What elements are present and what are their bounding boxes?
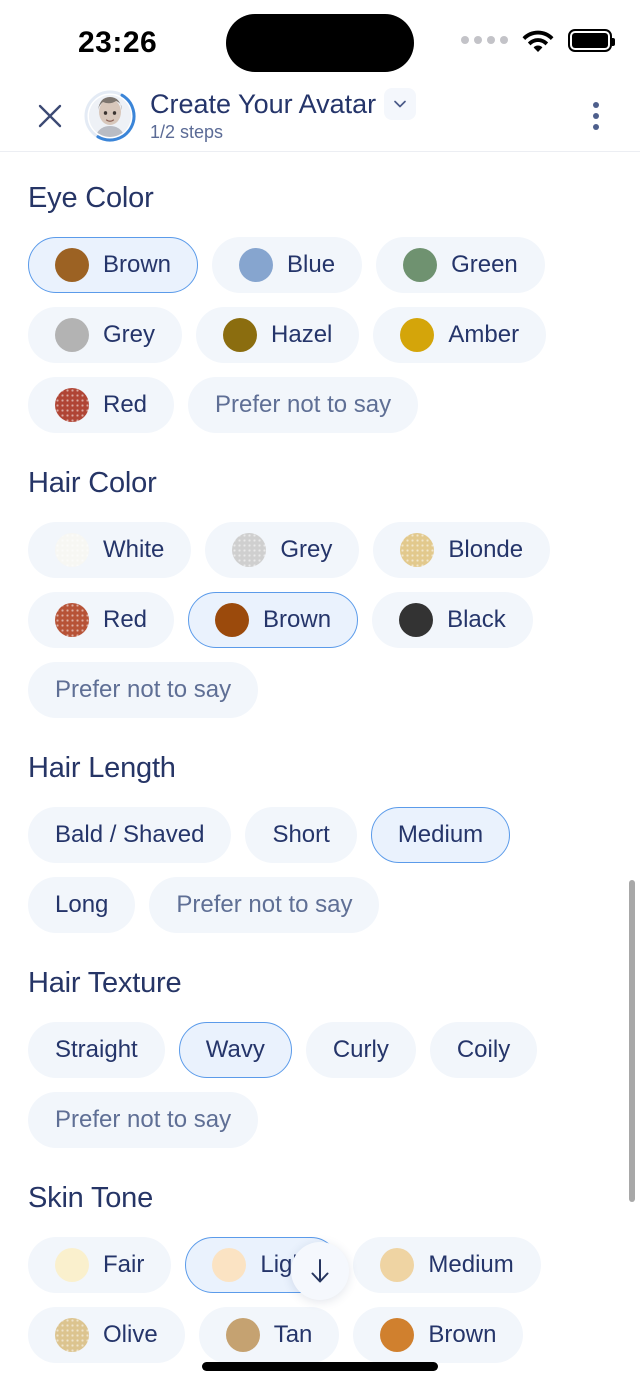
kebab-menu-icon [593, 102, 599, 108]
color-swatch-icon [55, 533, 89, 567]
chip-label: Green [451, 251, 518, 279]
chip-label: Brown [103, 251, 171, 279]
chip-hair-color-blonde[interactable]: Blonde [373, 522, 550, 578]
color-swatch-icon [55, 1318, 89, 1352]
chip-skin-tone-fair[interactable]: Fair [28, 1237, 171, 1293]
section-hair-texture: Hair TextureStraightWavyCurlyCoilyPrefer… [28, 967, 612, 1148]
scrollbar-thumb[interactable] [629, 880, 635, 1202]
section-title-hair-length: Hair Length [28, 752, 612, 785]
color-swatch-icon [400, 533, 434, 567]
status-bar: 23:26 [0, 0, 640, 80]
chip-label: Wavy [206, 1036, 265, 1064]
color-swatch-icon [223, 318, 257, 352]
color-swatch-icon [55, 318, 89, 352]
chip-label: Red [103, 606, 147, 634]
wifi-icon [522, 28, 554, 52]
chip-label: Grey [103, 321, 155, 349]
chip-label: Tan [274, 1321, 313, 1349]
chip-hair-color-prefer-not-to-say[interactable]: Prefer not to say [28, 662, 258, 718]
chevron-down-icon [391, 95, 409, 113]
section-title-hair-texture: Hair Texture [28, 967, 612, 1000]
title-dropdown-button[interactable] [384, 88, 416, 120]
cellular-dots-icon [461, 36, 508, 44]
chip-hair-length-long[interactable]: Long [28, 877, 135, 933]
section-eye-color: Eye ColorBrownBlueGreenGreyHazelAmberRed… [28, 182, 612, 433]
chip-label: Brown [263, 606, 331, 634]
chip-label: Short [272, 821, 329, 849]
status-bar-time: 23:26 [78, 26, 157, 60]
chip-eye-color-red[interactable]: Red [28, 377, 174, 433]
chip-label: Long [55, 891, 108, 919]
chip-eye-color-blue[interactable]: Blue [212, 237, 362, 293]
avatar-portrait-icon [89, 95, 131, 137]
page-title: Create Your Avatar [150, 89, 376, 120]
chip-hair-length-bald-shaved[interactable]: Bald / Shaved [28, 807, 231, 863]
chip-row-eye-color: BrownBlueGreenGreyHazelAmberRedPrefer no… [28, 237, 612, 433]
close-icon [35, 101, 65, 131]
chip-label: White [103, 536, 164, 564]
scrollbar-track[interactable] [629, 153, 635, 1328]
chip-hair-texture-straight[interactable]: Straight [28, 1022, 165, 1078]
chip-label: Olive [103, 1321, 158, 1349]
color-swatch-icon [55, 1248, 89, 1282]
chip-hair-color-black[interactable]: Black [372, 592, 533, 648]
chip-label: Blue [287, 251, 335, 279]
color-swatch-icon [380, 1318, 414, 1352]
chip-label: Prefer not to say [176, 891, 352, 919]
chip-eye-color-hazel[interactable]: Hazel [196, 307, 359, 363]
chip-row-hair-length: Bald / ShavedShortMediumLongPrefer not t… [28, 807, 612, 933]
close-button[interactable] [28, 94, 72, 138]
chip-label: Straight [55, 1036, 138, 1064]
chip-eye-color-grey[interactable]: Grey [28, 307, 182, 363]
color-swatch-icon [55, 603, 89, 637]
color-swatch-icon [226, 1318, 260, 1352]
chip-eye-color-amber[interactable]: Amber [373, 307, 546, 363]
overflow-menu-button[interactable] [574, 94, 618, 138]
chip-hair-length-prefer-not-to-say[interactable]: Prefer not to say [149, 877, 379, 933]
chip-label: Hazel [271, 321, 332, 349]
color-swatch-icon [239, 248, 273, 282]
chip-skin-tone-olive[interactable]: Olive [28, 1307, 185, 1363]
scroll-down-button[interactable] [291, 1242, 349, 1300]
chip-hair-texture-coily[interactable]: Coily [430, 1022, 537, 1078]
chip-label: Grey [280, 536, 332, 564]
status-bar-indicators [461, 28, 612, 52]
phone-screen: 23:26 [0, 0, 640, 1387]
chip-label: Prefer not to say [215, 391, 391, 419]
section-title-skin-tone: Skin Tone [28, 1182, 612, 1215]
chip-eye-color-brown[interactable]: Brown [28, 237, 198, 293]
chip-hair-length-short[interactable]: Short [245, 807, 356, 863]
chip-label: Prefer not to say [55, 1106, 231, 1134]
dynamic-island [226, 14, 414, 72]
chip-hair-length-medium[interactable]: Medium [371, 807, 510, 863]
chip-label: Prefer not to say [55, 676, 231, 704]
chip-label: Brown [428, 1321, 496, 1349]
color-swatch-icon [399, 603, 433, 637]
color-swatch-icon [232, 533, 266, 567]
color-swatch-icon [403, 248, 437, 282]
home-indicator [202, 1362, 438, 1371]
chip-skin-tone-brown[interactable]: Brown [353, 1307, 523, 1363]
section-hair-length: Hair LengthBald / ShavedShortMediumLongP… [28, 752, 612, 933]
chip-skin-tone-tan[interactable]: Tan [199, 1307, 340, 1363]
section-title-eye-color: Eye Color [28, 182, 612, 215]
color-swatch-icon [400, 318, 434, 352]
chip-label: Black [447, 606, 506, 634]
chip-label: Curly [333, 1036, 389, 1064]
color-swatch-icon [212, 1248, 246, 1282]
battery-full-icon [568, 29, 612, 52]
section-title-hair-color: Hair Color [28, 467, 612, 500]
color-swatch-icon [215, 603, 249, 637]
chip-skin-tone-medium[interactable]: Medium [353, 1237, 540, 1293]
color-swatch-icon [55, 248, 89, 282]
chip-label: Red [103, 391, 147, 419]
color-swatch-icon [380, 1248, 414, 1282]
chip-label: Bald / Shaved [55, 821, 204, 849]
avatar-options-scroll-area[interactable]: Eye ColorBrownBlueGreenGreyHazelAmberRed… [0, 152, 640, 1386]
chip-label: Medium [428, 1251, 513, 1279]
chip-row-hair-texture: StraightWavyCurlyCoilyPrefer not to say [28, 1022, 612, 1148]
chip-label: Fair [103, 1251, 144, 1279]
chip-label: Medium [398, 821, 483, 849]
chip-hair-texture-curly[interactable]: Curly [306, 1022, 416, 1078]
chip-eye-color-prefer-not-to-say[interactable]: Prefer not to say [188, 377, 418, 433]
chip-label: Blonde [448, 536, 523, 564]
chip-hair-color-grey[interactable]: Grey [205, 522, 359, 578]
color-swatch-icon [55, 388, 89, 422]
chip-hair-color-red[interactable]: Red [28, 592, 174, 648]
chip-hair-color-brown[interactable]: Brown [188, 592, 358, 648]
step-progress-label: 1/2 steps [150, 122, 574, 143]
chip-hair-texture-prefer-not-to-say[interactable]: Prefer not to say [28, 1092, 258, 1148]
app-header: Create Your Avatar 1/2 steps [0, 80, 640, 152]
header-titles: Create Your Avatar 1/2 steps [150, 88, 574, 143]
arrow-down-icon [306, 1256, 334, 1286]
avatar[interactable] [84, 90, 136, 142]
chip-eye-color-green[interactable]: Green [376, 237, 545, 293]
chip-hair-color-white[interactable]: White [28, 522, 191, 578]
chip-label: Coily [457, 1036, 510, 1064]
chip-hair-texture-wavy[interactable]: Wavy [179, 1022, 292, 1078]
chip-row-hair-color: WhiteGreyBlondeRedBrownBlackPrefer not t… [28, 522, 612, 718]
section-hair-color: Hair ColorWhiteGreyBlondeRedBrownBlackPr… [28, 467, 612, 718]
chip-label: Amber [448, 321, 519, 349]
